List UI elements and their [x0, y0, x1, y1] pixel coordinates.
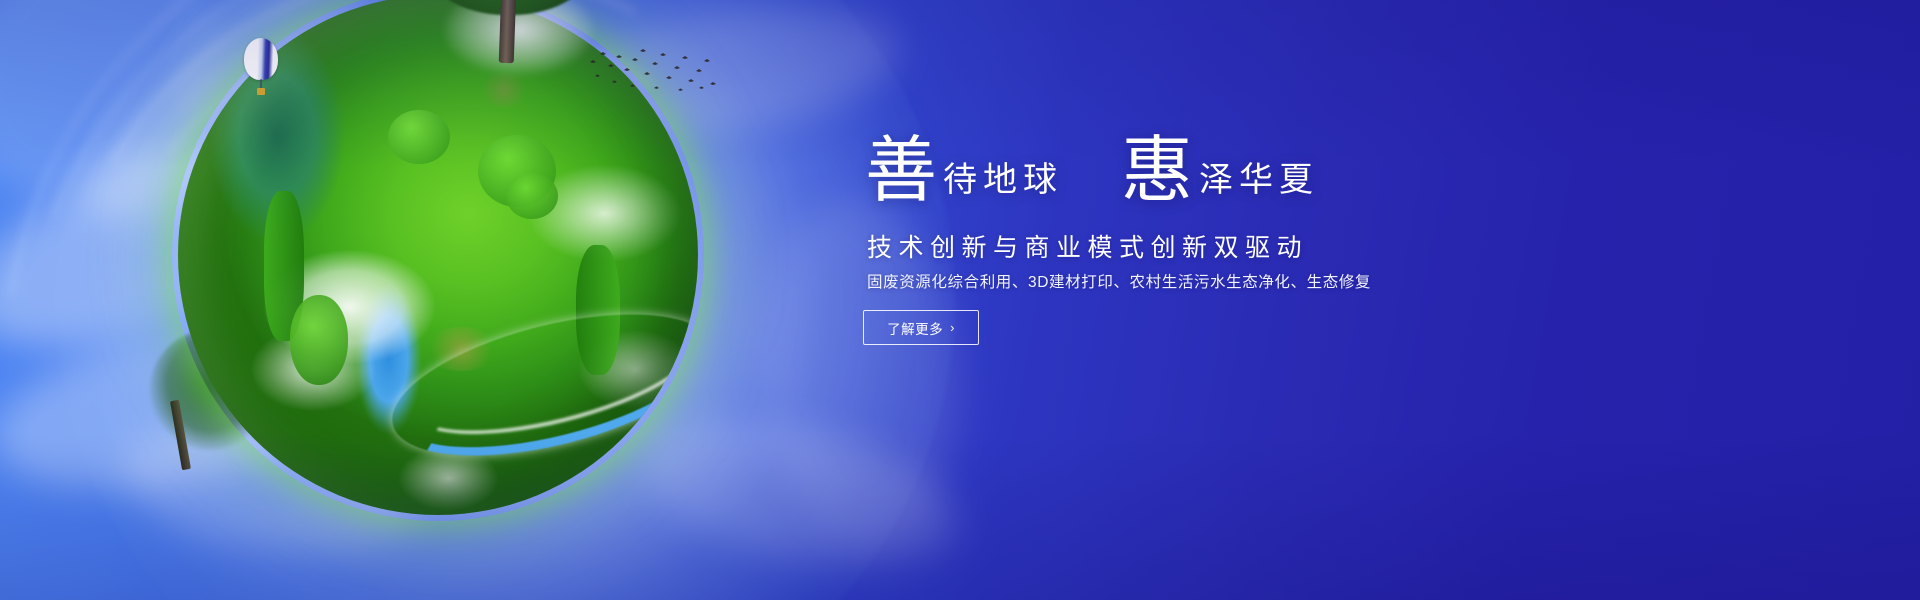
hero-subtitle: 技术创新与商业模式创新双驱动: [867, 228, 1308, 264]
headline-phrase-2-rest: 泽华夏: [1199, 164, 1319, 204]
hero-banner: 善 待地球 惠 泽华夏 技术创新与商业模式创新双驱动 固废资源化综合利用、3D建…: [0, 0, 1920, 600]
hero-description: 固废资源化综合利用、3D建材打印、农村生活污水生态净化、生态修复: [867, 270, 1371, 292]
chevron-right-icon: ›: [950, 321, 955, 334]
learn-more-button[interactable]: 了解更多 ›: [863, 310, 979, 345]
headline-phrase-2-lead: 惠: [1121, 138, 1193, 204]
hero-content: 善 待地球 惠 泽华夏 技术创新与商业模式创新双驱动 固废资源化综合利用、3D建…: [860, 0, 1860, 600]
learn-more-label: 了解更多: [887, 318, 943, 338]
hero-headline: 善 待地球 惠 泽华夏: [865, 138, 1319, 204]
headline-phrase-1: 善 待地球: [865, 138, 1063, 204]
headline-phrase-1-rest: 待地球: [943, 164, 1063, 204]
headline-phrase-1-lead: 善: [865, 138, 937, 204]
headline-phrase-2: 惠 泽华夏: [1121, 138, 1319, 204]
